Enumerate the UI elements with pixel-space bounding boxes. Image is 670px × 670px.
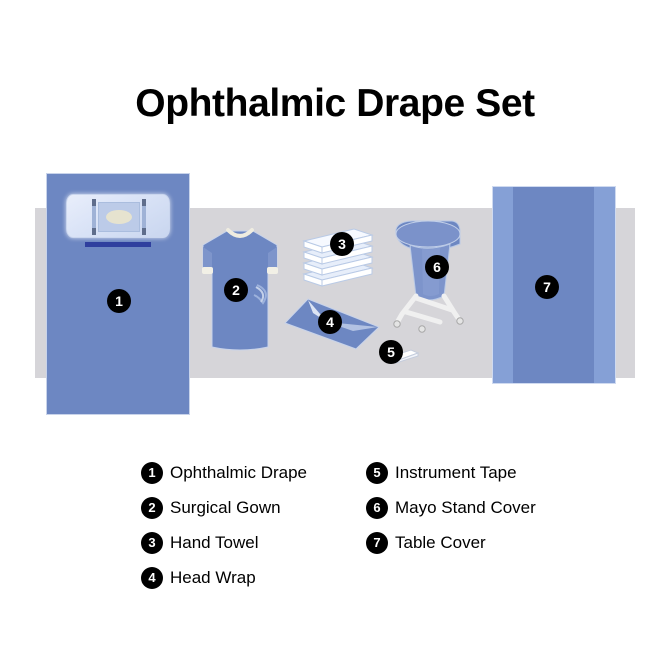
callout-badge-7: 7: [535, 275, 559, 299]
legend-badge-5: 5: [366, 462, 388, 484]
legend-badge-2: 2: [141, 497, 163, 519]
legend-item-surgical-gown: 2 Surgical Gown: [141, 490, 307, 525]
legend-item-hand-towel: 3 Hand Towel: [141, 525, 307, 560]
legend-label-3: Hand Towel: [170, 533, 259, 553]
drape-tab-left: [92, 199, 96, 235]
drape-incise-bar: [85, 242, 151, 247]
drape-eye-aperture: [106, 210, 132, 224]
legend-label-5: Instrument Tape: [395, 463, 517, 483]
drape-fenestration-window: [66, 194, 170, 238]
callout-badge-3: 3: [330, 232, 354, 256]
drape-tab-right: [142, 199, 146, 235]
legend-column-left: 1 Ophthalmic Drape 2 Surgical Gown 3 Han…: [141, 455, 307, 595]
legend-label-2: Surgical Gown: [170, 498, 281, 518]
legend-badge-6: 6: [366, 497, 388, 519]
legend-item-mayo-stand-cover: 6 Mayo Stand Cover: [366, 490, 536, 525]
legend-label-1: Ophthalmic Drape: [170, 463, 307, 483]
legend-label-6: Mayo Stand Cover: [395, 498, 536, 518]
ophthalmic-drape-set-page: Ophthalmic Drape Set: [0, 0, 670, 670]
callout-badge-5: 5: [379, 340, 403, 364]
callout-badge-4: 4: [318, 310, 342, 334]
legend-badge-4: 4: [141, 567, 163, 589]
callout-badge-6: 6: [425, 255, 449, 279]
callout-badge-2: 2: [224, 278, 248, 302]
callout-badge-1: 1: [107, 289, 131, 313]
legend-badge-7: 7: [366, 532, 388, 554]
legend-item-head-wrap: 4 Head Wrap: [141, 560, 307, 595]
legend-item-table-cover: 7 Table Cover: [366, 525, 536, 560]
legend: 1 Ophthalmic Drape 2 Surgical Gown 3 Han…: [0, 455, 670, 605]
legend-label-7: Table Cover: [395, 533, 486, 553]
legend-item-instrument-tape: 5 Instrument Tape: [366, 455, 536, 490]
legend-item-ophthalmic-drape: 1 Ophthalmic Drape: [141, 455, 307, 490]
legend-badge-3: 3: [141, 532, 163, 554]
legend-badge-1: 1: [141, 462, 163, 484]
product-illustration-scene: 1 2 3 4 5 6 7: [0, 0, 670, 450]
legend-label-4: Head Wrap: [170, 568, 256, 588]
legend-column-right: 5 Instrument Tape 6 Mayo Stand Cover 7 T…: [366, 455, 536, 560]
